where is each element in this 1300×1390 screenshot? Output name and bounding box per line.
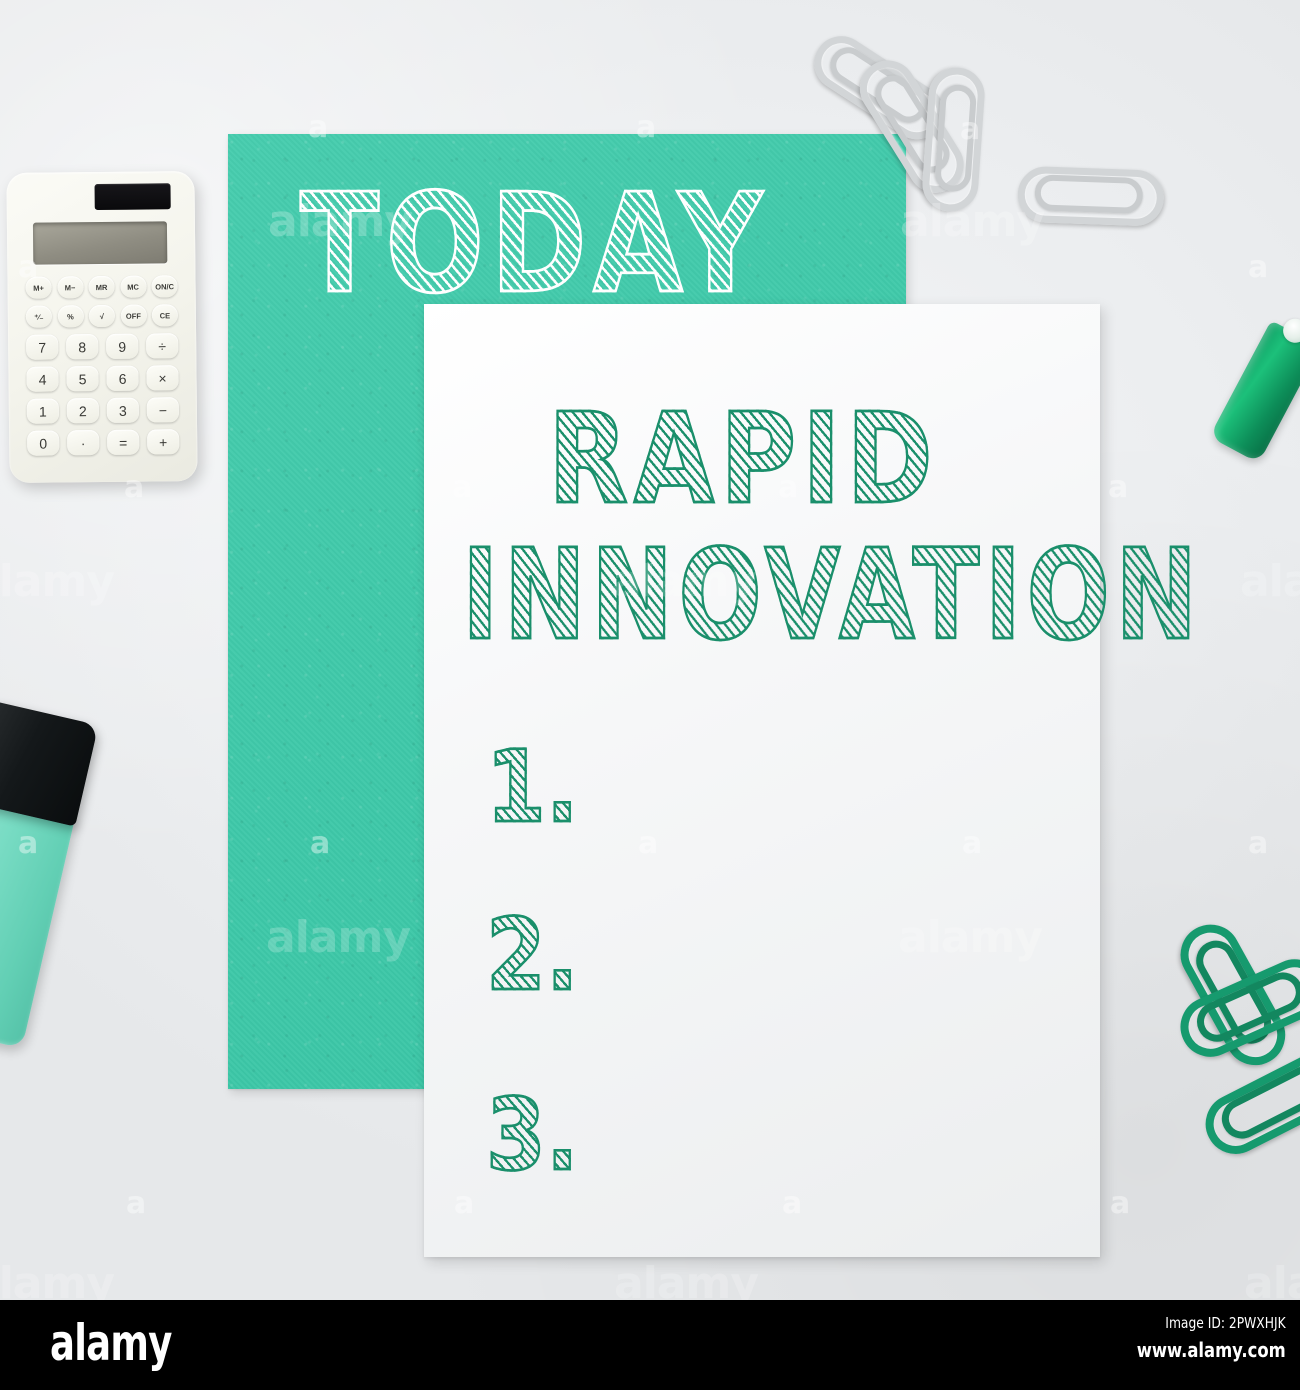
rapid-headline: RAPID [548, 400, 938, 519]
footer-meta: Image ID: 2PWXHJK www.alamy.com [1104, 1314, 1286, 1362]
calculator-keypad[interactable]: M+ M− MR MC ON/C ⁺⁄₋ % √ OFF CE 7 8 9 ÷ … [25, 275, 179, 463]
calc-key-mminus[interactable]: M− [57, 276, 83, 298]
calc-key-8[interactable]: 8 [66, 334, 98, 359]
calc-key-decimal[interactable]: · [67, 430, 99, 455]
paperclip-inner-loop [934, 84, 977, 193]
list-item-2: 2. [486, 898, 579, 1013]
calc-key-0[interactable]: 0 [27, 430, 59, 455]
paperclip-inner-loop [1034, 174, 1143, 214]
calc-key-3[interactable]: 3 [107, 398, 139, 423]
calculator-row: 0 · = + [27, 429, 179, 456]
calc-key-9[interactable]: 9 [106, 334, 138, 359]
calculator-row: 7 8 9 ÷ [26, 333, 178, 360]
calc-key-plus[interactable]: + [147, 429, 179, 454]
calculator-row: ⁺⁄₋ % √ OFF CE [26, 304, 178, 328]
calc-key-divide[interactable]: ÷ [146, 333, 178, 358]
calc-key-minus[interactable]: − [147, 397, 179, 422]
calc-key-ce[interactable]: CE [152, 304, 178, 326]
silver-paperclip-icon[interactable] [1017, 166, 1150, 213]
calculator[interactable]: M+ M− MR MC ON/C ⁺⁄₋ % √ OFF CE 7 8 9 ÷ … [6, 171, 197, 483]
list-item-1: 1. [486, 730, 579, 845]
calc-key-off[interactable]: OFF [120, 305, 146, 327]
calc-key-2[interactable]: 2 [67, 398, 99, 423]
calc-key-mc[interactable]: MC [120, 276, 146, 298]
calc-key-mplus[interactable]: M+ [25, 277, 51, 299]
calculator-row: 4 5 6 × [26, 365, 178, 392]
alamy-footer-bar: alamy Image ID: 2PWXHJK www.alamy.com [0, 1300, 1300, 1390]
calc-key-7[interactable]: 7 [26, 334, 58, 359]
alamy-url-link[interactable]: www.alamy.com [1137, 1338, 1286, 1362]
today-headline: TODAY [300, 180, 769, 310]
calc-key-5[interactable]: 5 [66, 366, 98, 391]
image-id-label: Image ID: 2PWXHJK [1137, 1314, 1286, 1332]
calc-key-4[interactable]: 4 [26, 366, 58, 391]
calc-key-1[interactable]: 1 [27, 398, 59, 423]
innovation-headline: INNOVATION [462, 538, 1203, 656]
calc-key-multiply[interactable]: × [146, 365, 178, 390]
calculator-solar-cell [95, 183, 171, 210]
calculator-row: 1 2 3 − [27, 397, 179, 424]
calculator-display [33, 221, 167, 264]
calc-key-6[interactable]: 6 [106, 366, 138, 391]
calculator-row: M+ M− MR MC ON/C [25, 275, 177, 299]
calc-key-sqrt[interactable]: √ [89, 305, 115, 327]
calc-key-equals[interactable]: = [107, 430, 139, 455]
calc-key-onc[interactable]: ON/C [151, 275, 177, 297]
calc-key-percent[interactable]: % [57, 305, 83, 327]
list-item-3: 3. [486, 1078, 579, 1193]
alamy-logo[interactable]: alamy [50, 1318, 172, 1368]
screenshot-stage: M+ M− MR MC ON/C ⁺⁄₋ % √ OFF CE 7 8 9 ÷ … [0, 0, 1300, 1390]
calc-key-plusminus[interactable]: ⁺⁄₋ [26, 306, 52, 328]
calc-key-mr[interactable]: MR [88, 276, 114, 298]
